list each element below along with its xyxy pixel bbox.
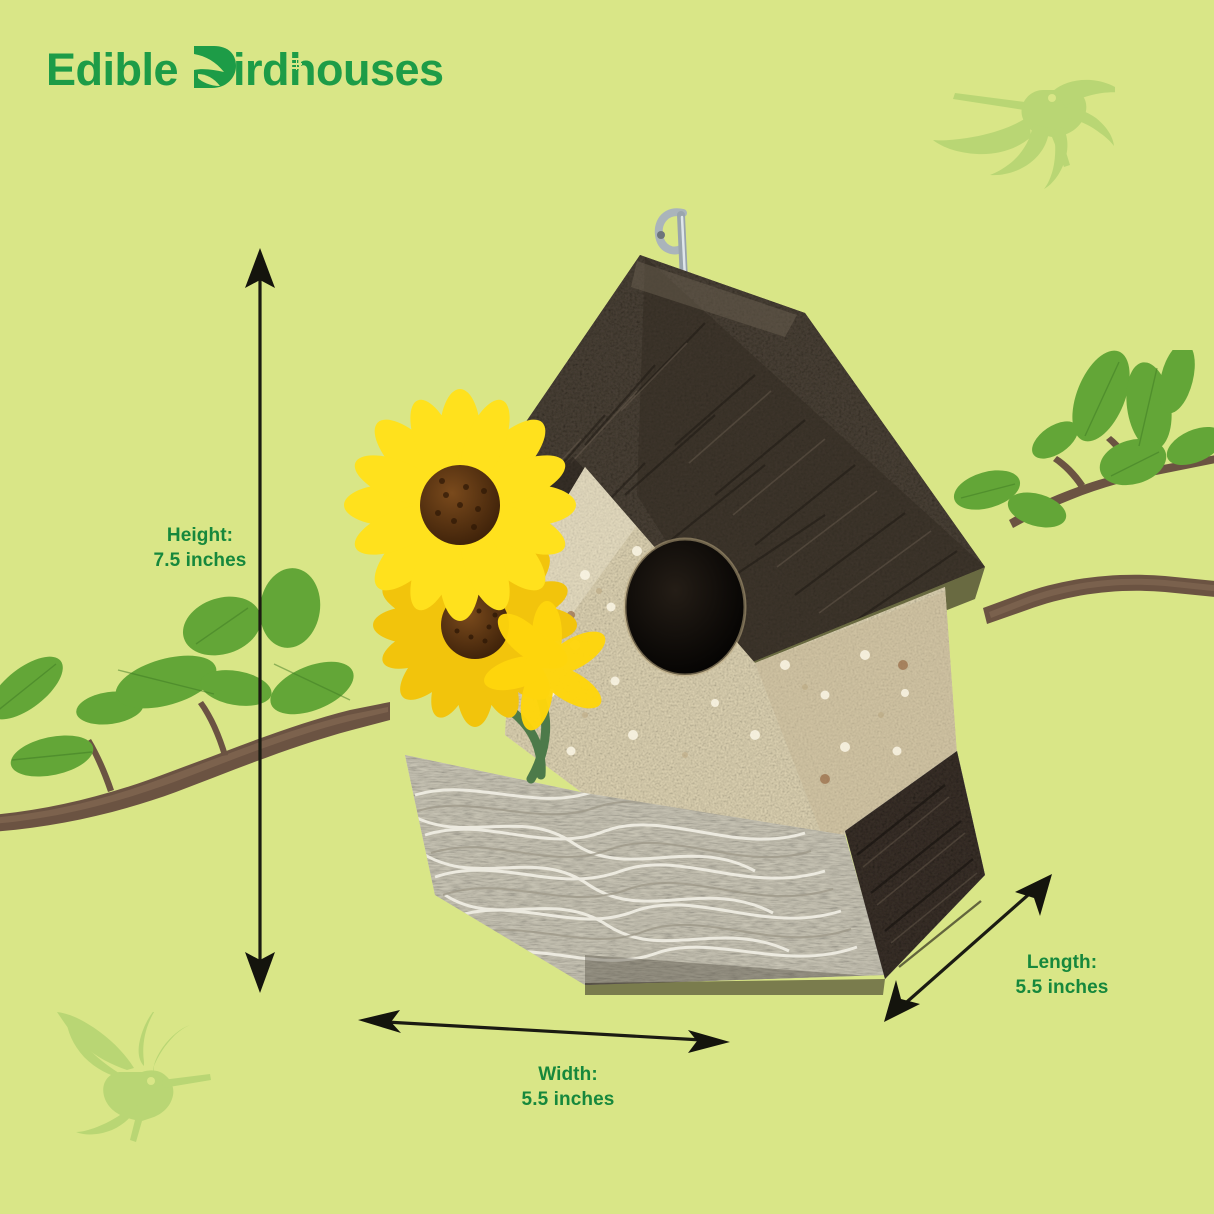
logo-text-part2: irdhouses [233, 47, 444, 92]
width-dimension-arrow [358, 1006, 730, 1056]
logo-text-part2-value: irdhouses [233, 44, 444, 95]
product-infographic: Height: 7.5 inches Width: 5.5 inches Len… [0, 0, 1214, 1214]
hummingbird-silhouette-icon [50, 1012, 220, 1142]
length-dimension-arrow [868, 858, 1068, 1038]
length-dimension-label: Length: 5.5 inches [978, 950, 1146, 1000]
logo-text-part1: Edible [46, 47, 178, 92]
leaf-bird-b-icon [192, 44, 236, 94]
hummingbird-silhouette-icon [925, 60, 1115, 200]
width-dimension-label: Width: 5.5 inches [466, 1062, 670, 1112]
house-window-icon [290, 58, 301, 69]
height-dimension-label: Height: 7.5 inches [118, 523, 282, 573]
height-dimension-arrow [225, 248, 295, 993]
edible-birdhouses-logo[interactable]: Edible irdhouses [46, 38, 444, 100]
